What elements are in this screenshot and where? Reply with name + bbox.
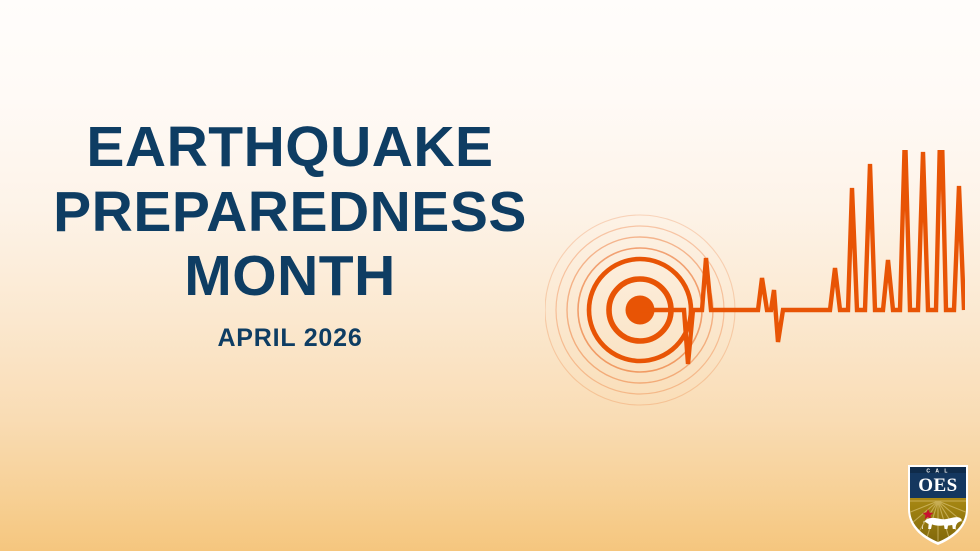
- headline-line-1: EARTHQUAKE: [0, 118, 580, 177]
- cal-oes-logo: C A L OES: [904, 461, 972, 547]
- headline-block: EARTHQUAKE PREPAREDNESS MONTH APRIL 2026: [0, 118, 580, 353]
- banner-subtitle: APRIL 2026: [0, 324, 580, 353]
- cal-oes-logo-svg: C A L OES: [904, 461, 972, 547]
- logo-cal-text: C A L: [926, 468, 949, 474]
- logo-oes-text: OES: [918, 475, 958, 496]
- headline-line-2: PREPAREDNESS: [0, 183, 580, 242]
- earthquake-graphic-svg: [545, 150, 965, 450]
- earthquake-graphic: [545, 150, 965, 450]
- earthquake-preparedness-banner: EARTHQUAKE PREPAREDNESS MONTH APRIL 2026: [0, 0, 980, 551]
- headline-line-3: MONTH: [0, 247, 580, 306]
- seismograph-waveform: [640, 150, 964, 364]
